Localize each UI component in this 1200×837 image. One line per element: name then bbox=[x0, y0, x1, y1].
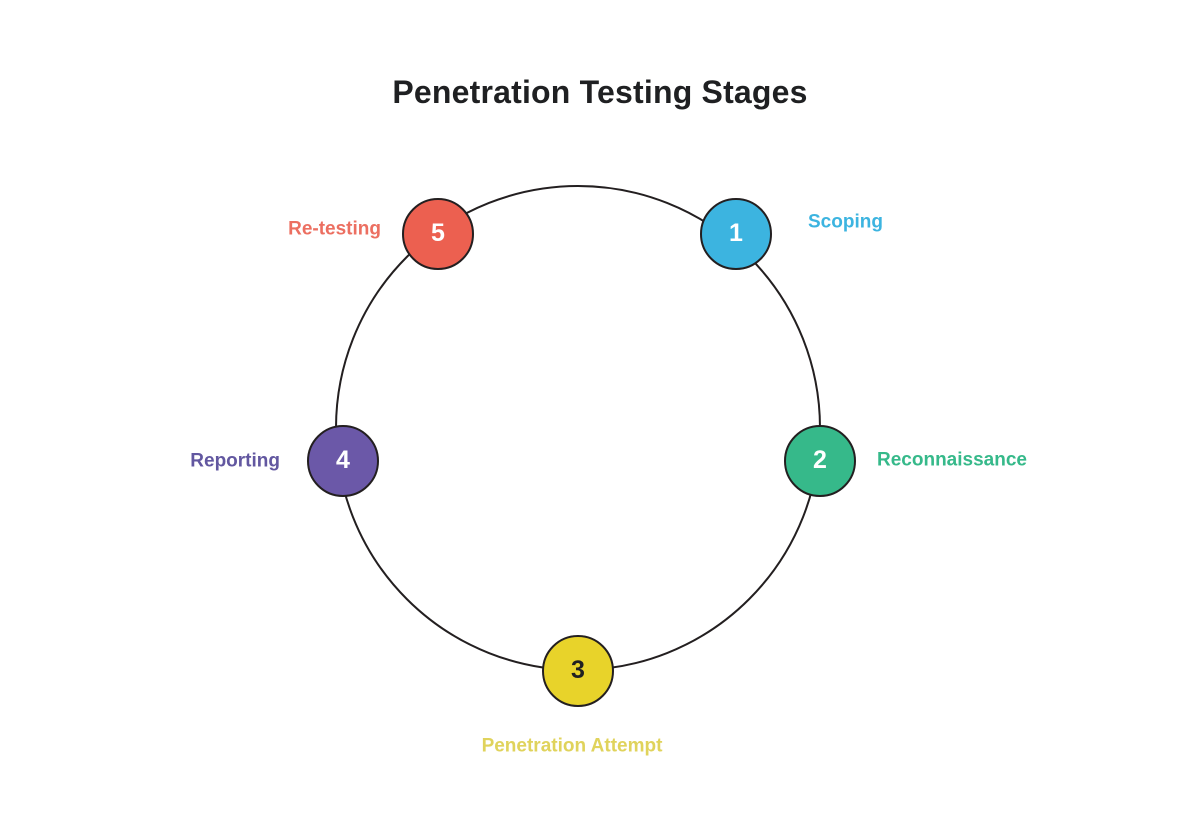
diagram-canvas: Penetration Testing Stages 12345 Scoping… bbox=[0, 0, 1200, 837]
cycle-ring bbox=[0, 0, 1200, 837]
stage-node-number: 4 bbox=[336, 448, 350, 473]
stage-node-number: 2 bbox=[813, 448, 827, 473]
stage-node-number: 1 bbox=[729, 221, 743, 246]
stage-node-2[interactable]: 2 bbox=[784, 425, 856, 497]
stage-node-number: 3 bbox=[571, 658, 585, 683]
stage-label-penetration-attempt: Penetration Attempt bbox=[482, 737, 663, 756]
stage-node-1[interactable]: 1 bbox=[700, 198, 772, 270]
stage-label-reporting: Reporting bbox=[190, 452, 280, 471]
stage-node-5[interactable]: 5 bbox=[402, 198, 474, 270]
stage-node-3[interactable]: 3 bbox=[542, 635, 614, 707]
stage-label-reconnaissance: Reconnaissance bbox=[877, 451, 1027, 470]
stage-node-number: 5 bbox=[431, 221, 445, 246]
stage-label-re-testing: Re-testing bbox=[288, 220, 381, 239]
stage-node-4[interactable]: 4 bbox=[307, 425, 379, 497]
stage-label-scoping: Scoping bbox=[808, 213, 883, 232]
